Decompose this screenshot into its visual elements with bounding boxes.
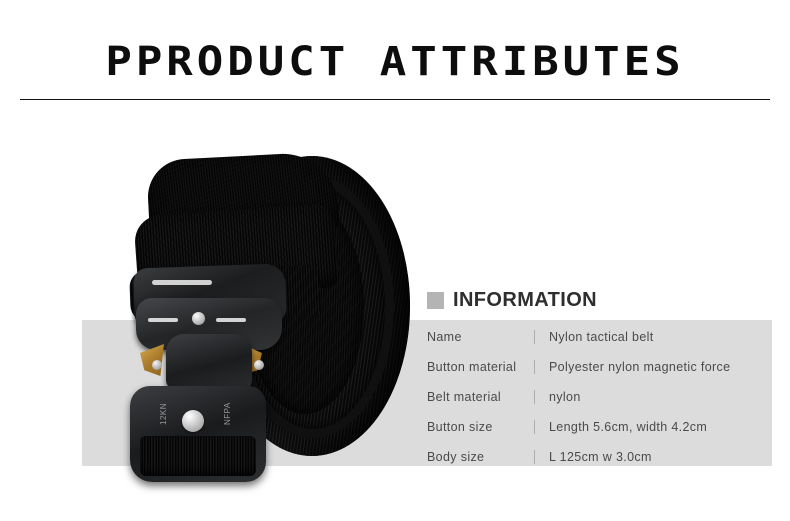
information-heading-label: INFORMATION	[453, 290, 597, 310]
buckle-stamp-right-text: NFPA	[223, 399, 239, 425]
buckle-stamp-left-text: 12KN	[159, 399, 175, 425]
table-row: Button sizeLength 5.6cm, width 4.2cm	[427, 412, 772, 442]
buckle-dash-left	[148, 318, 178, 322]
table-row: Belt materialnylon	[427, 382, 772, 412]
table-row: Button materialPolyester nylon magnetic …	[427, 352, 772, 382]
column-separator	[534, 420, 535, 434]
belt-tail-strap	[140, 436, 256, 476]
header-divider	[20, 99, 770, 100]
column-separator	[534, 390, 535, 404]
information-header: INFORMATION	[427, 290, 597, 310]
buckle-rivet-right	[254, 360, 264, 370]
page-title: PPRODUCT ATTRIBUTES	[0, 40, 790, 84]
column-separator	[534, 330, 535, 344]
column-separator	[534, 450, 535, 464]
column-separator	[534, 360, 535, 374]
buckle-rivet-top	[192, 312, 205, 325]
square-marker-icon	[427, 292, 444, 309]
buckle-rivet-left	[152, 360, 162, 370]
table-row: NameNylon tactical belt	[427, 322, 772, 352]
buckle-slot	[152, 280, 212, 285]
spec-label: Belt material	[427, 390, 534, 404]
spec-value: Length 5.6cm, width 4.2cm	[549, 420, 707, 434]
buckle-dash-right	[216, 318, 246, 322]
spec-label: Body size	[427, 450, 534, 464]
spec-value: L 125cm w 3.0cm	[549, 450, 652, 464]
spec-label: Name	[427, 330, 534, 344]
spec-label: Button material	[427, 360, 534, 374]
product-image-belt: 12KN NFPA	[96, 148, 426, 466]
spec-value: nylon	[549, 390, 581, 404]
specification-table: NameNylon tactical beltButton materialPo…	[427, 322, 772, 472]
spec-value: Polyester nylon magnetic force	[549, 360, 730, 374]
buckle-release-lever-left	[140, 344, 164, 376]
spec-value: Nylon tactical belt	[549, 330, 654, 344]
table-row: Body sizeL 125cm w 3.0cm	[427, 442, 772, 472]
buckle-rivet-center	[182, 410, 204, 432]
spec-label: Button size	[427, 420, 534, 434]
buckle-center-block	[166, 334, 252, 390]
